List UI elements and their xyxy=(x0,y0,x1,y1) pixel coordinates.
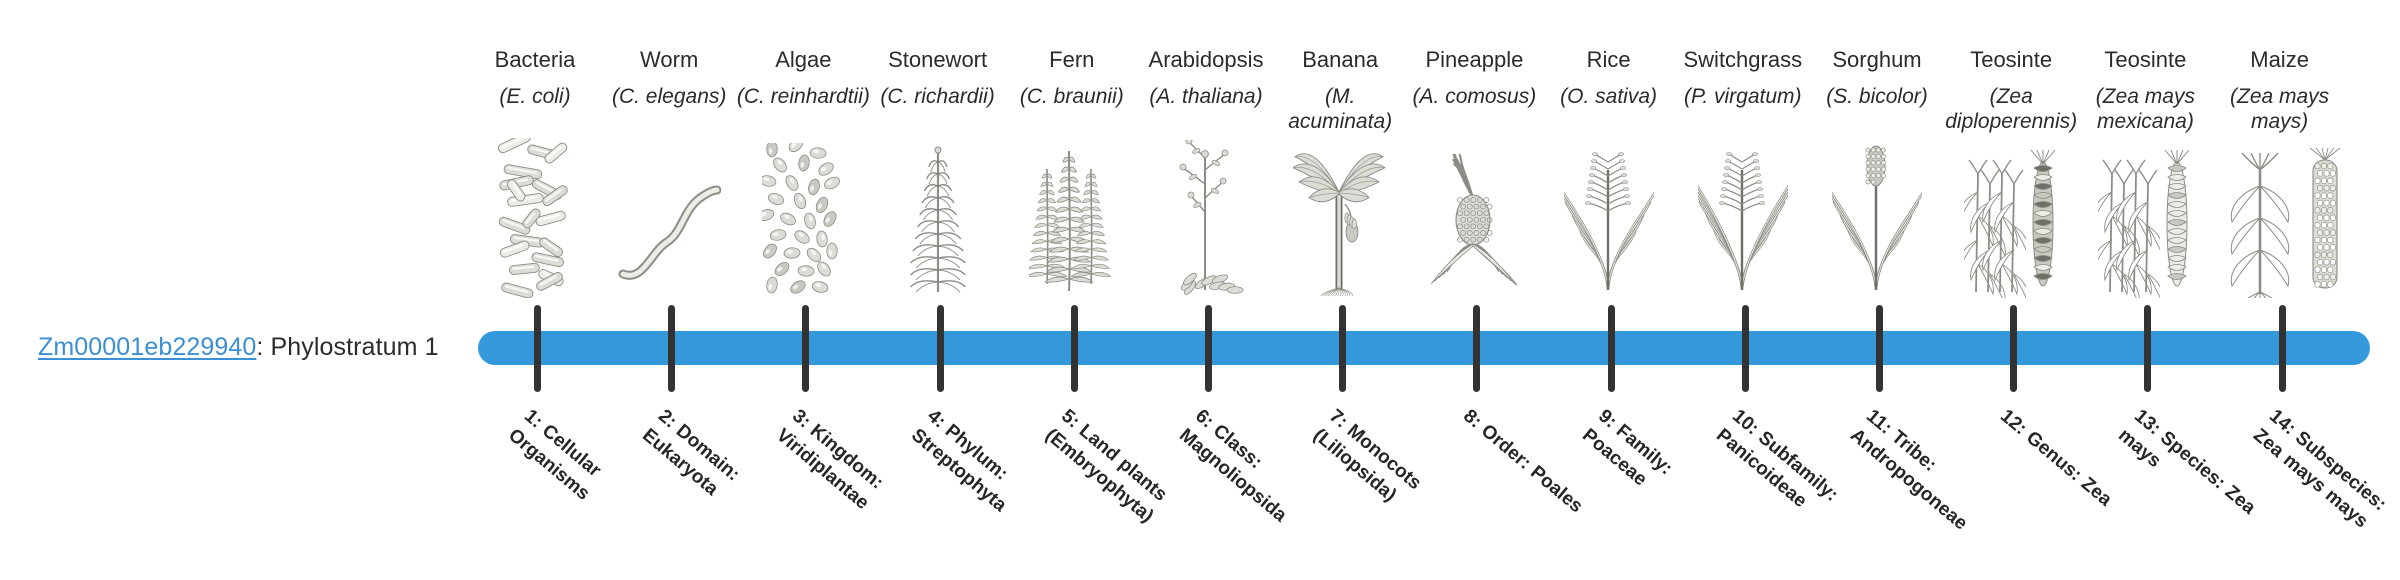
switchgrass-icon xyxy=(1676,168,1810,298)
species-column: Maize(Zea mays mays)14: Subspecies: Zea … xyxy=(2213,0,2347,580)
species-common-name: Fern xyxy=(1005,46,1139,73)
phylostratum-tick[interactable] xyxy=(1071,305,1078,392)
species-column: Pineapple(A. comosus)8: Order: Poales xyxy=(1407,0,1541,580)
species-column: Teosinte(Zea mays mexicana)13: Species: … xyxy=(2078,0,2212,580)
pineapple-icon xyxy=(1407,168,1541,298)
species-common-name: Sorghum xyxy=(1810,46,1944,73)
species-common-name: Pineapple xyxy=(1407,46,1541,73)
species-header: Rice(O. sativa) xyxy=(1542,46,1676,109)
species-common-name: Maize xyxy=(2213,46,2347,73)
phylostratum-tick[interactable] xyxy=(2010,305,2017,392)
species-column: Algae(C. reinhardtii)3: Kingdom: Viridip… xyxy=(736,0,870,580)
species-header: Worm(C. elegans) xyxy=(602,46,736,109)
species-column: Switchgrass(P. virgatum)10: Subfamily: P… xyxy=(1676,0,1810,580)
stonewort-icon xyxy=(871,168,1005,298)
phylostratum-tick[interactable] xyxy=(937,305,944,392)
phylostratum-value: Phylostratum 1 xyxy=(270,333,438,361)
phylostratum-tick[interactable] xyxy=(2279,305,2286,392)
species-common-name: Stonewort xyxy=(871,46,1005,73)
phylostratum-tick[interactable] xyxy=(534,305,541,392)
phylostratum-tick[interactable] xyxy=(1608,305,1615,392)
sorghum-icon xyxy=(1810,168,1944,298)
rice-plant-icon xyxy=(1542,168,1676,298)
gene-id-link[interactable]: Zm00001eb229940 xyxy=(38,333,256,361)
species-common-name: Teosinte xyxy=(1944,46,2078,73)
species-header: Switchgrass(P. virgatum) xyxy=(1676,46,1810,109)
species-common-name: Rice xyxy=(1542,46,1676,73)
phylostratum-tick[interactable] xyxy=(802,305,809,392)
phylostratum-tick[interactable] xyxy=(1742,305,1749,392)
species-column: Rice(O. sativa)9: Family: Poaceae xyxy=(1542,0,1676,580)
species-header: Teosinte(Zea diploperennis) xyxy=(1944,46,2078,134)
species-common-name: Switchgrass xyxy=(1676,46,1810,73)
species-column: Stonewort(C. richardii)4: Phylum: Strept… xyxy=(871,0,1005,580)
species-scientific-name: (E. coli) xyxy=(468,84,602,109)
species-scientific-name: (M. acuminata) xyxy=(1273,84,1407,134)
arabidopsis-icon xyxy=(1139,168,1273,298)
species-header: Algae(C. reinhardtii) xyxy=(736,46,870,109)
species-scientific-name: (S. bicolor) xyxy=(1810,84,1944,109)
species-scientific-name: (Zea mays mays) xyxy=(2213,84,2347,134)
species-header: Teosinte(Zea mays mexicana) xyxy=(2078,46,2212,134)
maize-plant-ear-icon xyxy=(2213,168,2347,298)
species-common-name: Worm xyxy=(602,46,736,73)
species-column: Fern(C. braunii)5: Land plants (Embryoph… xyxy=(1005,0,1139,580)
phylostratum-tick[interactable] xyxy=(668,305,675,392)
taxonomy-label: 14: Subspecies: Zea mays mays xyxy=(2247,404,2400,552)
gene-phylostratum-label: Zm00001eb229940: Phylostratum 1 xyxy=(38,332,439,362)
species-scientific-name: (O. sativa) xyxy=(1542,84,1676,109)
species-column: Worm(C. elegans)2: Domain: Eukaryota xyxy=(602,0,736,580)
phylostratum-tick[interactable] xyxy=(1876,305,1883,392)
phylostratum-tick[interactable] xyxy=(2144,305,2151,392)
species-header: Fern(C. braunii) xyxy=(1005,46,1139,109)
fern-frond-icon xyxy=(1005,168,1139,298)
phylostratum-figure: Zm00001eb229940: Phylostratum 1 Bacteria… xyxy=(0,0,2400,580)
bacteria-rods-icon xyxy=(468,168,602,298)
species-scientific-name: (A. comosus) xyxy=(1407,84,1541,109)
algae-cells-icon xyxy=(736,168,870,298)
species-scientific-name: (Zea diploperennis) xyxy=(1944,84,2078,134)
species-scientific-name: (C. braunii) xyxy=(1005,84,1139,109)
teosinte-plant-ear-icon xyxy=(1944,168,2078,298)
phylostratum-tick[interactable] xyxy=(1473,305,1480,392)
species-header: Arabidopsis(A. thaliana) xyxy=(1139,46,1273,109)
phylostratum-tick[interactable] xyxy=(1205,305,1212,392)
species-column: Teosinte(Zea diploperennis)12: Genus: Ze… xyxy=(1944,0,2078,580)
species-column: Bacteria(E. coli)1: Cellular Organisms xyxy=(468,0,602,580)
species-scientific-name: (A. thaliana) xyxy=(1139,84,1273,109)
species-header: Stonewort(C. richardii) xyxy=(871,46,1005,109)
nematode-worm-icon xyxy=(602,168,736,298)
species-common-name: Banana xyxy=(1273,46,1407,73)
species-scientific-name: (C. richardii) xyxy=(871,84,1005,109)
gene-label-separator: : xyxy=(256,333,270,361)
teosinte-plant-ear-icon xyxy=(2078,168,2212,298)
species-header: Sorghum(S. bicolor) xyxy=(1810,46,1944,109)
species-scientific-name: (Zea mays mexicana) xyxy=(2078,84,2212,134)
species-scientific-name: (C. elegans) xyxy=(602,84,736,109)
species-column: Arabidopsis(A. thaliana)6: Class: Magnol… xyxy=(1139,0,1273,580)
species-header: Bacteria(E. coli) xyxy=(468,46,602,109)
species-column: Banana(M. acuminata)7: Monocots (Liliops… xyxy=(1273,0,1407,580)
species-column: Sorghum(S. bicolor)11: Tribe: Andropogon… xyxy=(1810,0,1944,580)
species-header: Pineapple(A. comosus) xyxy=(1407,46,1541,109)
species-common-name: Teosinte xyxy=(2078,46,2212,73)
species-scientific-name: (P. virgatum) xyxy=(1676,84,1810,109)
species-header: Banana(M. acuminata) xyxy=(1273,46,1407,134)
phylostratum-tick[interactable] xyxy=(1339,305,1346,392)
banana-plant-icon xyxy=(1273,168,1407,298)
species-common-name: Bacteria xyxy=(468,46,602,73)
species-common-name: Algae xyxy=(736,46,870,73)
species-common-name: Arabidopsis xyxy=(1139,46,1273,73)
species-header: Maize(Zea mays mays) xyxy=(2213,46,2347,134)
species-scientific-name: (C. reinhardtii) xyxy=(736,84,870,109)
